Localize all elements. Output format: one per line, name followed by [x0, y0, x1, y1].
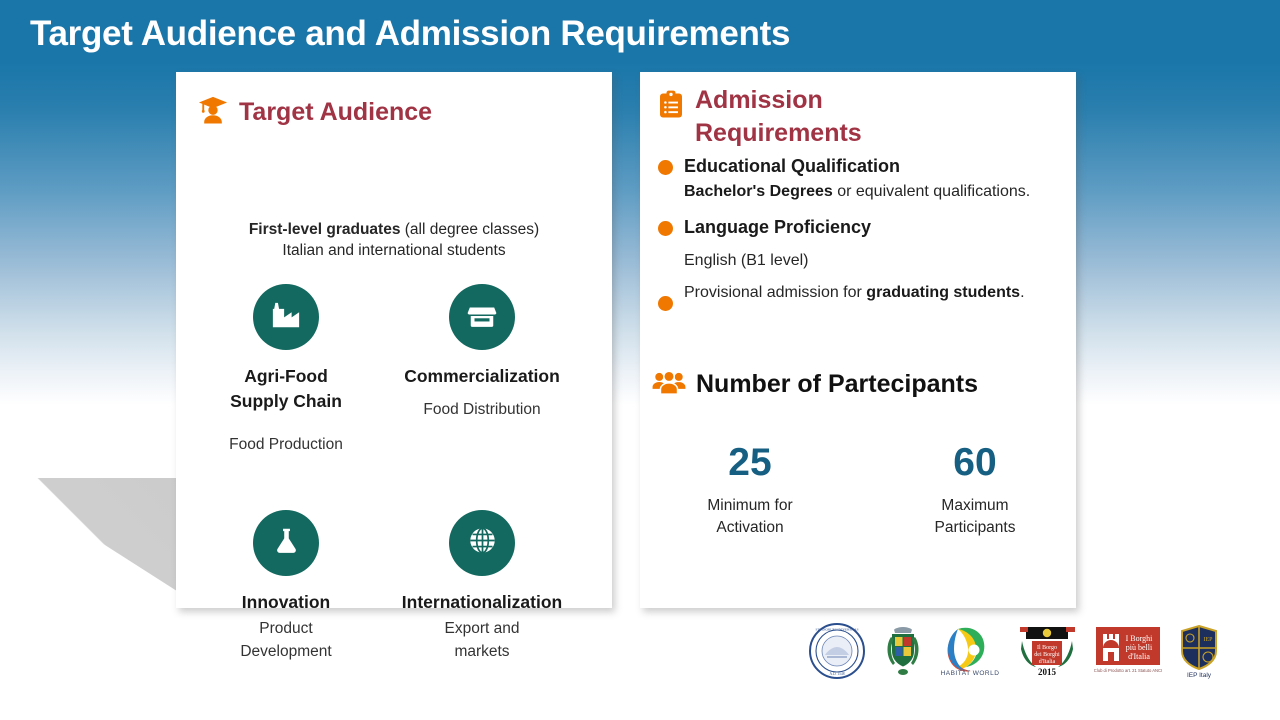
admission-heading-line2: Requirements [695, 117, 862, 150]
requirement-detail-pre: Provisional admission for [684, 284, 866, 301]
admission-heading: Admission Requirements [695, 84, 862, 150]
svg-text:Club di Prodotto art. 21 Statu: Club di Prodotto art. 21 Statuto ANCI [1094, 668, 1162, 673]
svg-text:d'Italia: d'Italia [1128, 652, 1150, 661]
target-audience-header: Target Audience [198, 95, 432, 130]
requirement-body: Educational Qualification Bachelor's Deg… [684, 154, 1062, 203]
svg-text:IEP Italy: IEP Italy [1187, 672, 1212, 679]
pillar-title-line1: Agri-Food [188, 364, 384, 389]
requirement-item: Educational Qualification Bachelor's Deg… [658, 154, 1062, 203]
target-audience-intro-line1: First-level graduates (all degree classe… [196, 219, 592, 240]
stat-label-line1: Minimum for [660, 495, 840, 517]
pillar-subtitle-line1: Product [188, 617, 384, 640]
flask-icon [272, 526, 301, 560]
stat-number: 25 [660, 440, 840, 486]
pillar-title: Innovation [188, 590, 384, 615]
target-audience-intro-line2: Italian and international students [196, 240, 592, 261]
admission-heading-line1: Admission [695, 84, 862, 117]
universita-messina-logo: STUDIORUM UNIVERSITAS A.D. 1548 [808, 622, 866, 685]
pillar-title: Commercialization [384, 364, 580, 389]
svg-text:più belli: più belli [1126, 643, 1153, 652]
participants-heading: Number of Partecipants [696, 370, 978, 399]
bullet-icon [658, 160, 673, 175]
svg-text:STUDIORUM UNIVERSITAS: STUDIORUM UNIVERSITAS [816, 627, 859, 631]
requirement-body: Provisional admission for graduating stu… [684, 282, 1062, 304]
page-title: Target Audience and Admission Requiremen… [30, 14, 790, 54]
svg-text:HABITAT WORLD: HABITAT WORLD [941, 670, 1000, 677]
participants-header: Number of Partecipants [652, 369, 978, 400]
bullet-icon [658, 221, 673, 236]
factory-icon [271, 300, 301, 335]
svg-text:dei Borghi: dei Borghi [1034, 652, 1060, 658]
title-bar: Target Audience and Admission Requiremen… [0, 0, 1280, 72]
requirement-detail-bold: Bachelor's Degrees [684, 183, 833, 200]
target-audience-heading: Target Audience [239, 95, 432, 129]
svg-text:I Borghi: I Borghi [1126, 634, 1154, 643]
partner-logo-strip: STUDIORUM UNIVERSITAS A.D. 1548 [808, 622, 1268, 684]
pillar-title: Agri-Food Supply Chain [188, 364, 384, 414]
requirement-detail-rest: or equivalent qualifications. [833, 183, 1030, 200]
borgo-dei-borghi-2015-logo: Il Borgo dei Borghi d'Italia 2015 [1014, 623, 1080, 684]
requirement-detail: Provisional admission for graduating stu… [684, 282, 1062, 304]
stat-label-line2: Activation [660, 517, 840, 539]
stat-label-line1: Maximum [885, 495, 1065, 517]
requirement-detail: English (B1 level) [684, 250, 1062, 272]
bullet-icon [658, 296, 673, 311]
requirement-body: Language Proficiency English (B1 level) [684, 215, 1062, 272]
stat-label: Minimum for Activation [660, 495, 840, 539]
requirement-detail-bold: graduating students [866, 284, 1020, 301]
iep-italy-logo: IEP IEP Italy [1176, 623, 1222, 684]
clipboard-list-icon [658, 84, 684, 125]
target-audience-intro: First-level graduates (all degree classe… [196, 219, 592, 261]
stat-number: 60 [885, 440, 1065, 486]
requirement-title: Language Proficiency [684, 215, 1062, 240]
requirements-list: Educational Qualification Bachelor's Deg… [658, 154, 1062, 317]
pillar-icon-circle [449, 510, 515, 576]
admission-requirements-card: Admission Requirements Educational Quali… [640, 72, 1076, 608]
store-icon [467, 300, 497, 335]
people-group-icon [652, 369, 686, 400]
globe-icon [468, 526, 497, 560]
slide-root: Target Audience and Admission Requiremen… [0, 0, 1280, 720]
requirement-item: Provisional admission for graduating stu… [658, 282, 1062, 311]
requirement-detail: Bachelor's Degrees or equivalent qualifi… [684, 181, 1062, 203]
requirement-title: Educational Qualification [684, 154, 1062, 179]
pillar-subtitle-line1: Export and [384, 617, 580, 640]
requirement-item: Language Proficiency English (B1 level) [658, 215, 1062, 272]
pillar-commercialization: Commercialization Food Distribution [384, 284, 580, 421]
pillar-title: Internationalization [384, 590, 580, 615]
pillar-agri-food-supply-chain: Agri-Food Supply Chain Food Production [188, 284, 384, 456]
pillar-subtitle: Product Development [188, 617, 384, 663]
pillar-subtitle: Food Production [188, 433, 384, 456]
stat-maximum: 60 Maximum Participants [885, 440, 1065, 539]
stat-minimum: 25 Minimum for Activation [660, 440, 840, 539]
stat-label: Maximum Participants [885, 495, 1065, 539]
pillar-internationalization: Internationalization Export and markets [384, 510, 580, 663]
pillar-icon-circle [253, 510, 319, 576]
graduation-cap-icon [198, 95, 228, 130]
pillar-title-line2: Supply Chain [188, 389, 384, 414]
svg-text:IEP: IEP [1204, 637, 1214, 643]
stat-label-line2: Participants [885, 517, 1065, 539]
pillar-icon-circle [449, 284, 515, 350]
pillar-subtitle-line2: markets [384, 640, 580, 663]
svg-text:2015: 2015 [1038, 667, 1057, 677]
decorative-corner-shadow [0, 478, 180, 593]
requirement-detail-post: . [1020, 284, 1024, 301]
svg-text:Il Borgo: Il Borgo [1037, 645, 1057, 651]
comune-crest-logo [880, 623, 926, 684]
intro-bold-text: First-level graduates [249, 221, 401, 238]
target-audience-card: Target Audience First-level graduates (a… [176, 72, 612, 608]
intro-rest-text: (all degree classes) [400, 221, 539, 238]
svg-text:A.D. 1548: A.D. 1548 [829, 672, 844, 676]
svg-text:d'Italia: d'Italia [1039, 659, 1056, 665]
borghi-piu-belli-italia-logo: I Borghi più belli d'Italia Club di Prod… [1094, 624, 1162, 683]
pillar-subtitle-line2: Development [188, 640, 384, 663]
pillar-subtitle: Export and markets [384, 617, 580, 663]
pillar-icon-circle [253, 284, 319, 350]
habitat-world-logo: HABITAT WORLD [940, 623, 1000, 684]
pillar-subtitle: Food Distribution [384, 398, 580, 421]
admission-requirements-header: Admission Requirements [658, 84, 908, 150]
pillar-innovation: Innovation Product Development [188, 510, 384, 663]
